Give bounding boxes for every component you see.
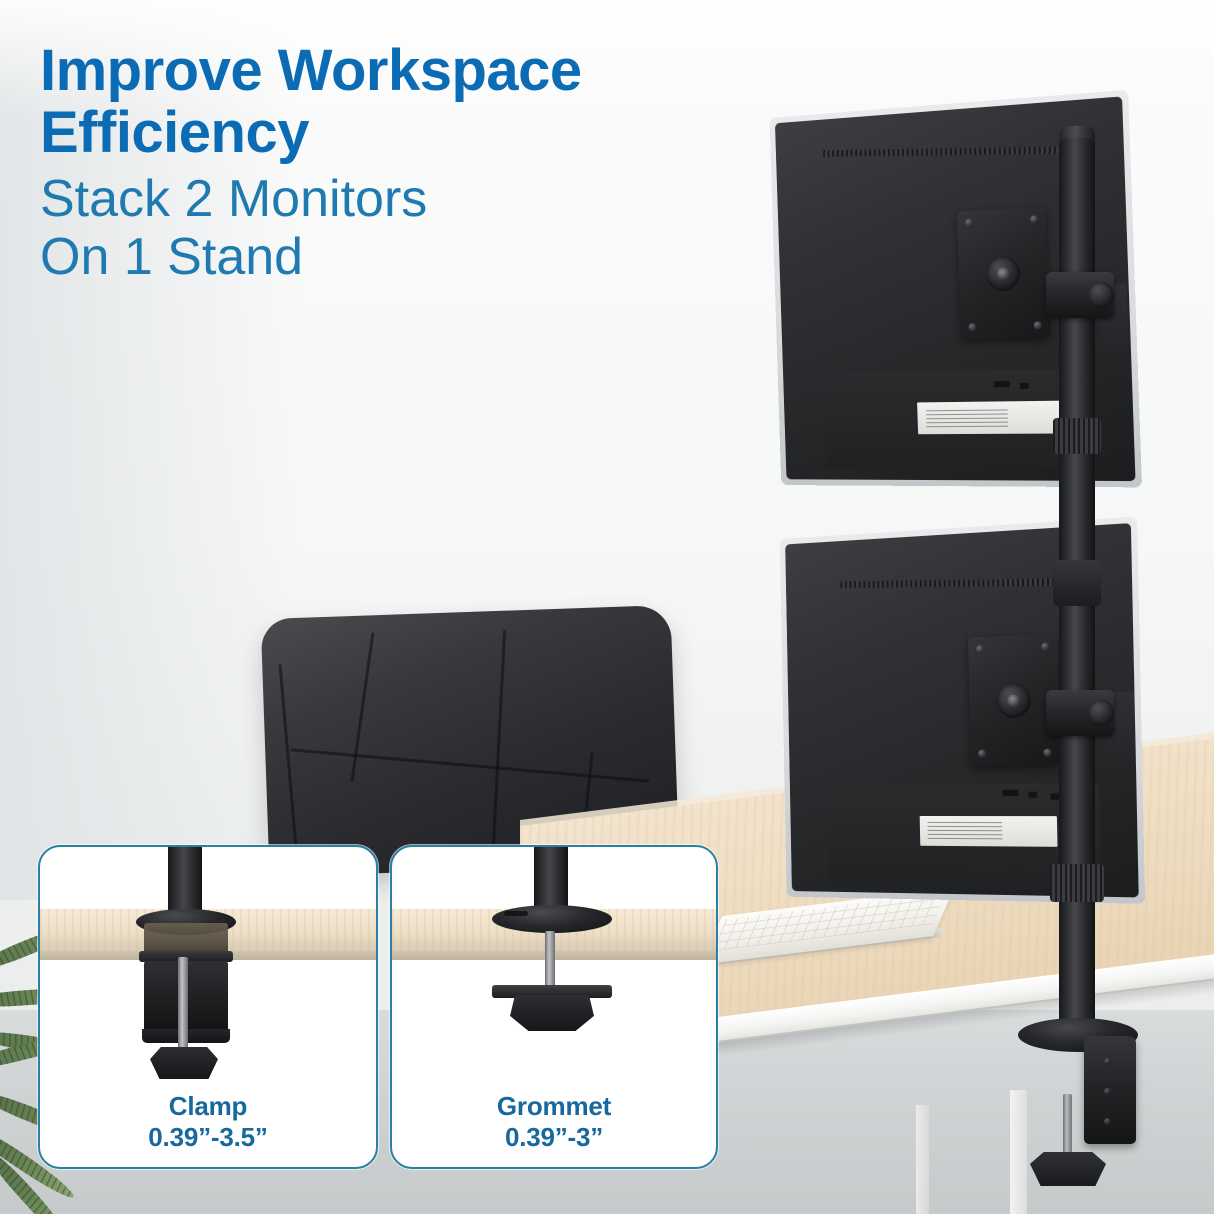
inset-range-grommet: 0.39”-3” [392,1122,716,1153]
monitor-spec-label [920,816,1058,847]
desk-leg-far [916,1105,929,1214]
vesa-screw [965,219,973,227]
monitor-port [994,381,1010,387]
inset-clamp-pole [168,845,202,917]
clamp-tighten-knob[interactable] [1030,1152,1106,1186]
page-title: Improve Workspace Efficiency [40,40,760,164]
inset-panel-clamp: Clamp 0.39”-3.5” [38,845,378,1169]
inset-grommet-base-plate [492,905,612,933]
product-marketing-image: Improve Workspace Efficiency Stack 2 Mon… [0,0,1214,1214]
inset-title-grommet: Grommet [392,1091,716,1122]
vesa-screw [976,645,984,653]
inset-title-clamp: Clamp [40,1091,376,1122]
headline-line-2: Efficiency [40,100,309,165]
pole-ribbed-ring [1050,864,1104,902]
inset-range-clamp: 0.39”-3.5” [40,1122,376,1153]
subheadline-line-1: Stack 2 Monitors [40,170,427,228]
headline-line-1: Improve Workspace [40,38,582,103]
clamp-screw [1104,1118,1111,1125]
inset-grommet-pole [534,845,568,913]
vesa-tilt-hub [986,256,1021,292]
vesa-screw [968,323,976,331]
vesa-screw [978,750,986,758]
upper-collar-knob[interactable] [1088,282,1114,308]
clamp-screw [1104,1058,1111,1065]
vesa-tilt-hub [996,683,1030,718]
inset-grommet-slot [504,911,528,916]
inset-grommet-rod [545,931,555,991]
inset-panel-grommet: Grommet 0.39”-3” [390,845,718,1169]
inset-caption-clamp: Clamp 0.39”-3.5” [40,1091,376,1153]
inset-clamp-knob[interactable] [150,1047,218,1079]
inset-grommet-knob[interactable] [510,995,594,1031]
monitor-spec-label [917,401,1068,435]
monitor-port [1002,790,1018,796]
vesa-mount-plate [957,207,1050,340]
desk-leg [1010,1090,1027,1214]
page-subtitle: Stack 2 Monitors On 1 Stand [40,170,760,286]
monitor-port [1020,383,1029,389]
inset-caption-grommet: Grommet 0.39”-3” [392,1091,716,1153]
headline-block: Improve Workspace Efficiency Stack 2 Mon… [40,40,760,286]
vesa-screw [1034,321,1042,329]
subheadline-line-2: On 1 Stand [40,228,303,286]
inset-clamp-rod [178,957,188,1053]
lower-collar-knob[interactable] [1088,700,1114,726]
vesa-screw [1041,643,1049,651]
clamp-body [1084,1036,1136,1144]
clamp-threaded-rod [1063,1094,1072,1162]
clamp-screw [1104,1088,1111,1095]
pole-ribbed-ring [1053,418,1101,454]
vesa-screw [1043,749,1051,757]
monitor-port [1028,792,1037,798]
pole-joiner-ring [1053,560,1101,606]
vesa-screw [1030,215,1038,224]
